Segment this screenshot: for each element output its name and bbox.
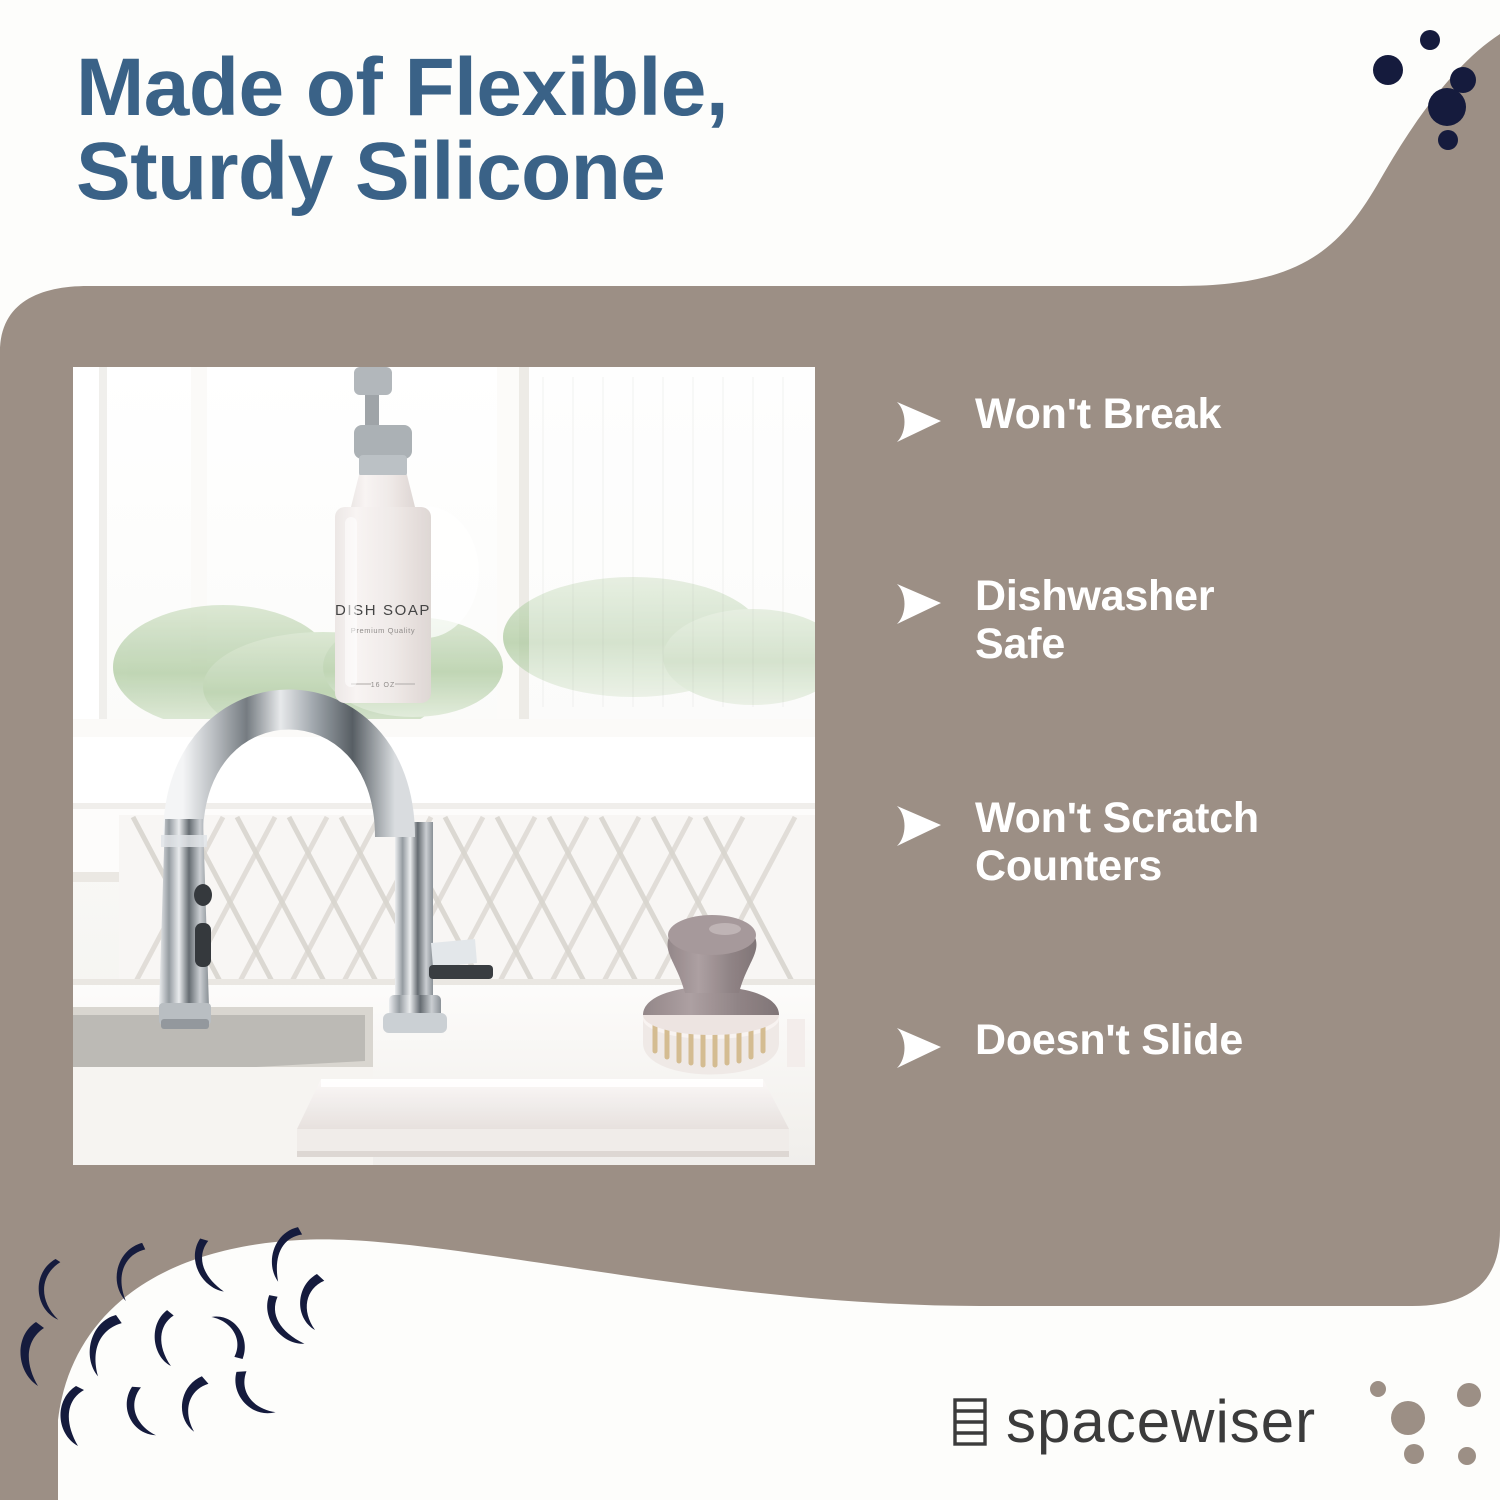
list-item: Dishwasher Safe bbox=[893, 572, 1214, 668]
shelf-ladder-icon bbox=[950, 1396, 990, 1448]
page-title: Made of Flexible, Sturdy Silicone bbox=[76, 46, 976, 213]
list-item: Won't Break bbox=[893, 390, 1221, 448]
arrow-right-icon bbox=[893, 396, 945, 448]
navy-crescent-pattern-icon bbox=[18, 1218, 378, 1480]
brand-name: spacewiser bbox=[1006, 1392, 1316, 1452]
poster-canvas: Made of Flexible, Sturdy Silicone bbox=[0, 0, 1500, 1500]
arrow-right-icon bbox=[893, 1022, 945, 1074]
list-item: Doesn't Slide bbox=[893, 1016, 1243, 1074]
list-item-label: Doesn't Slide bbox=[975, 1016, 1243, 1064]
list-item-label: Won't Break bbox=[975, 390, 1221, 438]
list-item: Won't Scratch Counters bbox=[893, 794, 1259, 890]
list-item-label: Dishwasher Safe bbox=[975, 572, 1214, 668]
kitchen-sink-silicone-tray-photo: DISH SOAP Premium Quality 16 OZ bbox=[73, 367, 815, 1165]
list-item-label: Won't Scratch Counters bbox=[975, 794, 1259, 890]
taupe-dot-cluster-icon bbox=[1352, 1378, 1492, 1488]
navy-dot-cluster-icon bbox=[1358, 26, 1498, 176]
arrow-right-icon bbox=[893, 578, 945, 630]
brand-logo[interactable]: spacewiser bbox=[950, 1392, 1316, 1452]
arrow-right-icon bbox=[893, 800, 945, 852]
